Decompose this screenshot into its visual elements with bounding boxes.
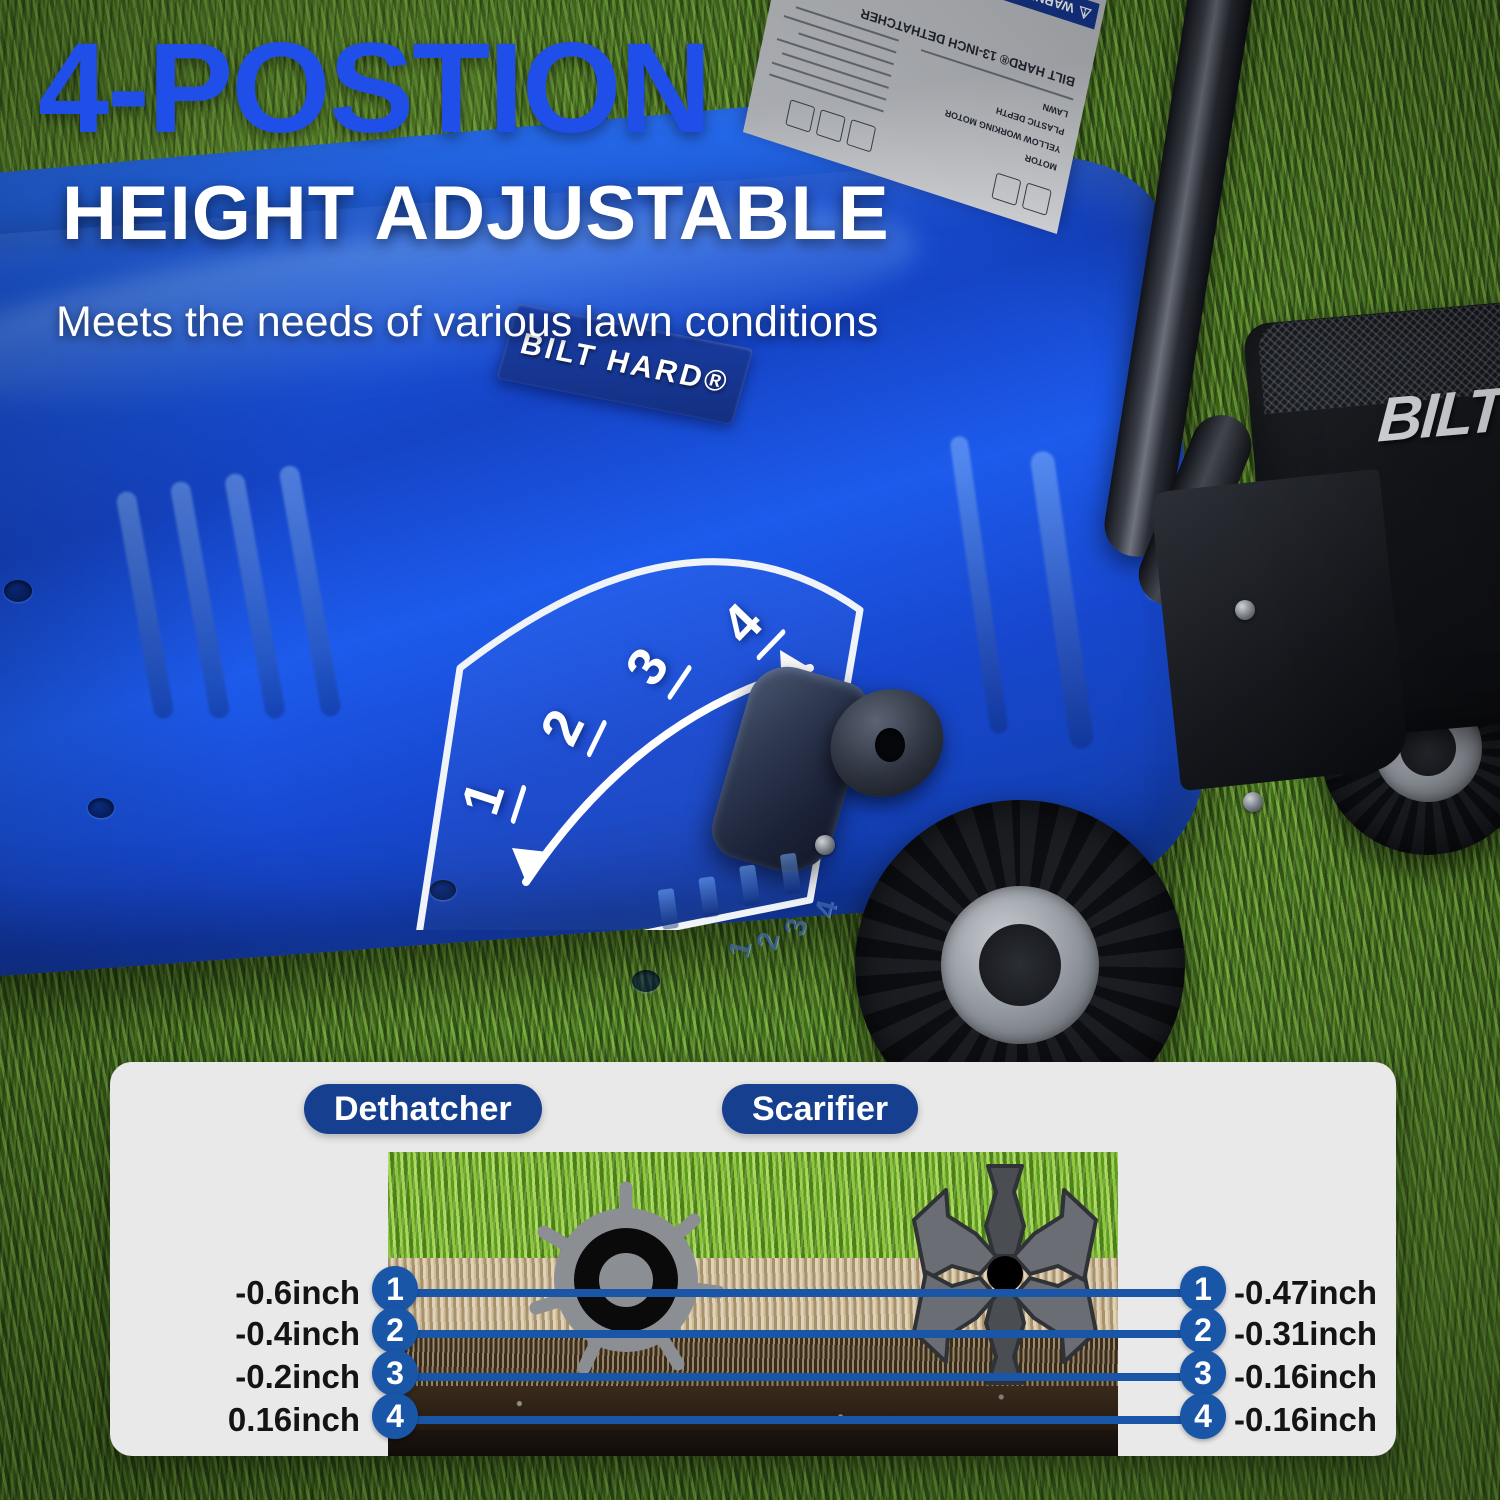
depth-value-right-3: -0.16inch <box>1234 1358 1377 1396</box>
depth-line-left-3 <box>410 1373 850 1381</box>
dethatcher-tine-wheel-icon <box>526 1180 726 1380</box>
scarifier-label-text: Scarifier <box>752 1090 888 1129</box>
headline-primary: 4-POSTION <box>38 28 710 150</box>
depth-value-left-1: -0.6inch <box>150 1274 360 1312</box>
depth-badge-right-4: 4 <box>1180 1393 1226 1439</box>
depth-line-right-4 <box>810 1416 1198 1424</box>
scarifier-label-pill: Scarifier <box>722 1084 918 1134</box>
depth-value-left-2: -0.4inch <box>150 1315 360 1353</box>
depth-value-right-4: -0.16inch <box>1234 1401 1377 1439</box>
depth-value-right-2: -0.31inch <box>1234 1315 1377 1353</box>
depth-badge-right-1: 1 <box>1180 1266 1226 1312</box>
dethatcher-label-text: Dethatcher <box>334 1090 512 1129</box>
depth-badge-left-4: 4 <box>372 1393 418 1439</box>
dethatcher-label-pill: Dethatcher <box>304 1084 542 1134</box>
product-marketing-image: BILT HARD® MOTOR YELLOW WORKING MOTOR PL… <box>0 0 1500 1500</box>
depth-line-left-1 <box>410 1289 850 1297</box>
depth-line-left-4 <box>410 1416 850 1424</box>
depth-value-left-4: 0.16inch <box>150 1401 360 1439</box>
depth-line-right-2 <box>810 1330 1198 1338</box>
headline-secondary: HEIGHT ADJUSTABLE <box>62 176 890 252</box>
depth-line-right-3 <box>810 1373 1198 1381</box>
depth-badge-right-2: 2 <box>1180 1307 1226 1353</box>
comparison-panel: Dethatcher Scarifier <box>110 1062 1396 1456</box>
rotor-hub <box>987 1256 1023 1292</box>
tagline-text: Meets the needs of various lawn conditio… <box>56 298 878 347</box>
scarifier-blade-rotor-icon <box>900 1162 1110 1387</box>
depth-value-left-3: -0.2inch <box>150 1358 360 1396</box>
depth-line-left-2 <box>410 1330 850 1338</box>
depth-badge-left-1: 1 <box>372 1266 418 1312</box>
depth-badge-left-2: 2 <box>372 1307 418 1353</box>
depth-value-right-1: -0.47inch <box>1234 1274 1377 1312</box>
soil-layer-subsoil <box>388 1430 1118 1456</box>
depth-line-right-1 <box>810 1289 1198 1297</box>
depth-badge-left-3: 3 <box>372 1350 418 1396</box>
depth-badge-right-3: 3 <box>1180 1350 1226 1396</box>
